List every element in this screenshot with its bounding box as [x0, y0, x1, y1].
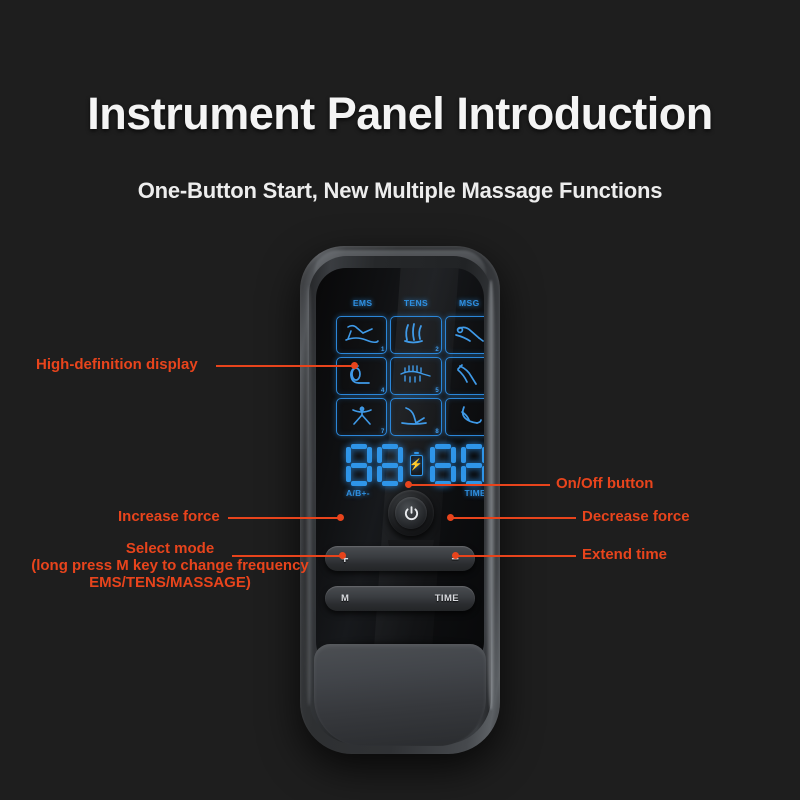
- battery-charging-icon: ⚡: [410, 455, 423, 476]
- leader-line-display: [216, 365, 354, 367]
- program-number-2: 2: [435, 347, 438, 353]
- mode-button-label[interactable]: M: [341, 593, 349, 604]
- arm-stretch-icon: [342, 321, 382, 347]
- screenshot-canvas: Instrument Panel Introduction One-Button…: [0, 0, 800, 800]
- leader-line-extend-time: [455, 555, 576, 557]
- mode-time-rocker-button[interactable]: M TIME: [325, 586, 475, 611]
- program-cell-6[interactable]: 6: [445, 357, 484, 395]
- program-number-1: 1: [381, 347, 384, 353]
- lcd-screen: EMS TENS MSG 1: [336, 298, 484, 498]
- back-icon: [450, 362, 484, 388]
- digit-right-1: [430, 444, 456, 486]
- foot-icon: [450, 403, 484, 429]
- leader-dot-select-mode: [339, 552, 346, 559]
- program-cell-1[interactable]: 1: [336, 316, 387, 354]
- program-cell-5[interactable]: 5: [390, 357, 441, 395]
- leader-dot-extend-time: [452, 552, 459, 559]
- digit-right-2: [461, 444, 485, 486]
- digit-left-1: [346, 444, 372, 486]
- annotation-select-mode-line2: (long press M key to change frequency: [10, 557, 330, 574]
- program-icon-grid: 1 2: [336, 316, 484, 436]
- annotation-extend-time-label: Extend time: [582, 546, 667, 563]
- leader-dot-increase-force: [337, 514, 344, 521]
- leader-line-on-off: [408, 484, 550, 486]
- device-remote: EMS TENS MSG 1: [300, 246, 500, 754]
- mode-label-row: EMS TENS MSG: [336, 298, 484, 312]
- leader-dot-on-off: [405, 481, 412, 488]
- leader-line-select-mode: [232, 555, 342, 557]
- shoulder-icon: [396, 321, 436, 347]
- device-grip-right: [485, 280, 497, 710]
- program-cell-8[interactable]: 8: [390, 398, 441, 436]
- device-grip-left: [304, 286, 314, 706]
- program-number-5: 5: [435, 388, 438, 394]
- lightning-bolt-glyph: ⚡: [409, 460, 423, 471]
- program-cell-9[interactable]: 9: [445, 398, 484, 436]
- program-number-7: 7: [381, 429, 384, 435]
- page-subtitle: One-Button Start, New Multiple Massage F…: [0, 178, 800, 204]
- annotation-increase-force-label: Increase force: [118, 508, 220, 525]
- leader-dot-decrease-force: [447, 514, 454, 521]
- annotation-display-label: High-definition display: [36, 356, 198, 373]
- power-icon: [403, 505, 420, 522]
- neck-icon: [450, 321, 484, 347]
- mode-label-msg: MSG: [443, 298, 484, 312]
- mode-label-tens: TENS: [389, 298, 442, 312]
- force-rocker-button[interactable]: + −: [325, 546, 475, 571]
- leg-bend-icon: [396, 403, 436, 429]
- leader-line-increase-force: [228, 517, 340, 519]
- program-number-8: 8: [435, 429, 438, 435]
- power-button-inner: [395, 497, 427, 529]
- digit-left-2: [377, 444, 403, 486]
- program-cell-3[interactable]: 3: [445, 316, 484, 354]
- device-faceplate: EMS TENS MSG 1: [316, 268, 484, 668]
- waist-icon: [342, 403, 382, 429]
- time-button-label[interactable]: TIME: [435, 593, 459, 604]
- leader-dot-display: [351, 362, 358, 369]
- annotation-on-off-label: On/Off button: [556, 475, 653, 492]
- program-cell-2[interactable]: 2: [390, 316, 441, 354]
- spine-icon: [396, 362, 436, 388]
- mode-label-ems: EMS: [336, 298, 389, 312]
- program-cell-7[interactable]: 7: [336, 398, 387, 436]
- seven-segment-display: ⚡: [336, 444, 484, 486]
- label-ab-intensity: A/B+-: [346, 488, 370, 502]
- annotation-select-mode-block: Select mode (long press M key to change …: [10, 540, 330, 591]
- page-title: Instrument Panel Introduction: [0, 88, 800, 140]
- annotation-select-mode-line3: EMS/TENS/MASSAGE): [10, 574, 330, 591]
- device-base-grip: [314, 644, 486, 746]
- program-cell-4[interactable]: 4: [336, 357, 387, 395]
- program-number-4: 4: [381, 388, 384, 394]
- label-time: TIME: [464, 488, 484, 502]
- annotation-decrease-force-label: Decrease force: [582, 508, 690, 525]
- power-button[interactable]: [388, 490, 434, 536]
- leader-line-decrease-force: [450, 517, 576, 519]
